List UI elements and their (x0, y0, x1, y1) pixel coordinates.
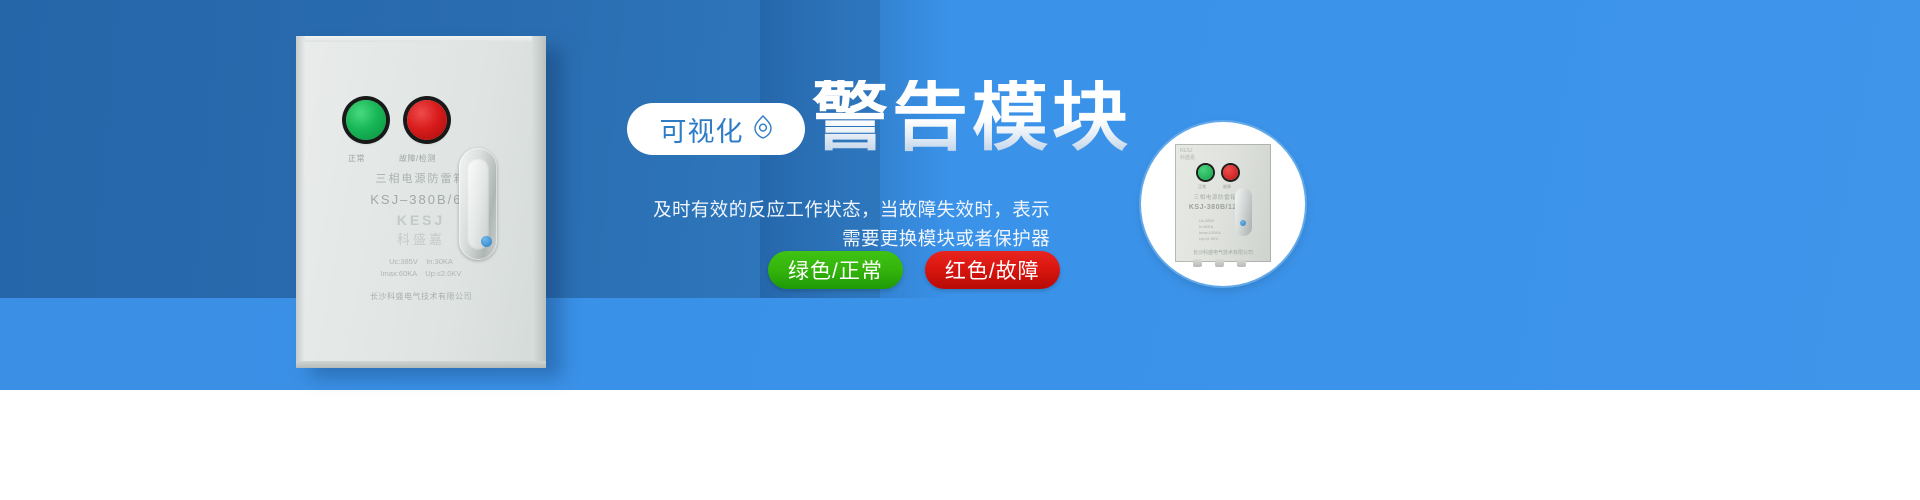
visualization-pill: 可视化 (627, 103, 805, 155)
promo-banner: 正常 故障/检测 三相电源防雷箱 KSJ–380B/60 KESJ 科盛嘉 Uc… (0, 0, 1920, 500)
inset-brand-cn: 科盛嘉 (1180, 155, 1195, 162)
green-indicator-lamp (346, 100, 386, 140)
inset-green-indicator-lamp (1198, 165, 1213, 180)
inset-cabinet-body: KESJ 科盛嘉 正常 故障 三相电源防雷箱 KSJ-380B/120 Uc:3… (1175, 144, 1271, 262)
cabinet-bottom-edge (296, 361, 546, 368)
nameplate-company: 长沙科盛电气技术有限公司 (296, 291, 546, 302)
nameplate-title: 三相电源防雷箱 (296, 170, 546, 186)
visualization-pill-label: 可视化 (660, 110, 744, 149)
spec-in: In:30KA (426, 257, 453, 266)
nameplate-brand-en: KESJ (296, 212, 546, 228)
inset-brand: KESJ 科盛嘉 (1180, 148, 1195, 161)
nameplate-specs: Uc:385V In:30KA Imax:60KA Up:≤2.0KV (296, 256, 546, 279)
product-photo: 正常 故障/检测 三相电源防雷箱 KSJ–380B/60 KESJ 科盛嘉 Uc… (296, 36, 556, 372)
cabinet-door-latch (459, 148, 497, 260)
latch-lock-dot (481, 236, 492, 247)
inset-latch-lock-dot (1240, 220, 1246, 226)
inset-cable-gland (1237, 259, 1246, 267)
latch-inner (467, 158, 489, 250)
status-badge-fault: 红色/故障 (925, 251, 1060, 289)
cabinet-top-edge (296, 36, 546, 42)
inset-nameplate-company: 长沙科盛电气技术有限公司 (1175, 249, 1271, 256)
inset-cable-gland (1215, 259, 1224, 267)
lamp-caption-normal: 正常 (348, 153, 365, 164)
nameplate-model: KSJ–380B/60 (296, 192, 546, 207)
spec-up: Up:≤2.0KV (425, 269, 461, 278)
product-inset-photo: KESJ 科盛嘉 正常 故障 三相电源防雷箱 KSJ-380B/120 Uc:3… (1141, 122, 1305, 286)
inset-door-latch (1235, 188, 1252, 236)
inset-spec-up: Up:≤2.5KV (1199, 236, 1221, 242)
subtitle-line-2: 需要更换模块或者保护器 (640, 225, 1050, 254)
subtitle: 及时有效的反应工作状态，当故障失效时，表示 需要更换模块或者保护器 (640, 196, 1050, 253)
subtitle-line-1: 及时有效的反应工作状态，当故障失效时，表示 (640, 196, 1050, 225)
inset-brand-en: KESJ (1180, 148, 1195, 155)
inset-red-indicator-lamp (1223, 165, 1238, 180)
inset-cable-gland (1193, 259, 1202, 267)
page-title: 警告模块 (812, 80, 1132, 156)
red-indicator-lamp (407, 100, 447, 140)
cabinet-body: 正常 故障/检测 三相电源防雷箱 KSJ–380B/60 KESJ 科盛嘉 Uc… (296, 36, 546, 368)
status-badge-normal: 绿色/正常 (768, 251, 903, 289)
spec-uc: Uc:385V (389, 257, 418, 266)
location-pin-icon (753, 115, 773, 144)
nameplate-brand-cn: 科盛嘉 (296, 229, 546, 248)
status-badge-group: 绿色/正常 红色/故障 (768, 251, 1060, 289)
cabinet-nameplate: 三相电源防雷箱 KSJ–380B/60 KESJ 科盛嘉 Uc:385V In:… (296, 170, 546, 302)
inset-lamp-caption-fault: 故障 (1223, 184, 1231, 190)
inset-nameplate-specs: Uc:385V In:60KA Imax:120KA Up:≤2.5KV (1199, 218, 1221, 242)
lamp-caption-fault: 故障/检测 (399, 153, 436, 164)
inset-lamp-caption-normal: 正常 (1198, 184, 1206, 190)
spec-imax: Imax:60KA (381, 269, 417, 278)
